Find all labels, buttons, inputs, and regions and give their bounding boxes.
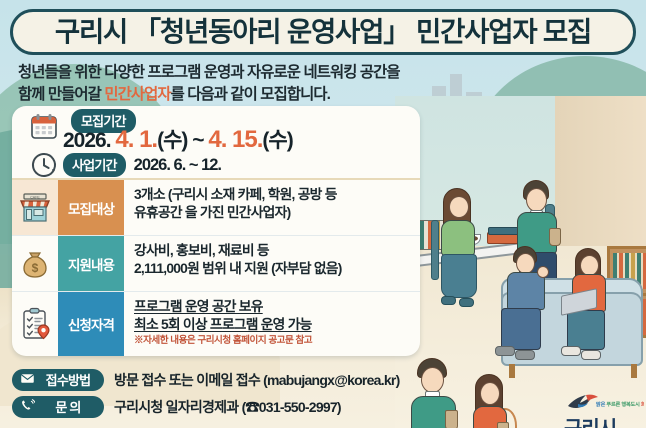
info-row-support: $ 지원내용 강사비, 홍보비, 재료비 등 2,111,000원 범위 내 지… bbox=[12, 236, 420, 292]
info-row-target: CAFE 모집대상 3개소 (구리시 소재 카페, 학원, 공방 등 유휴 bbox=[12, 180, 420, 236]
eligibility-note: ※자세한 내용은 구리시청 홈페이지 공고문 참고 bbox=[134, 335, 414, 348]
eligibility-line-1: 프로그램 운영 공간 보유 bbox=[134, 298, 414, 316]
clock-icon bbox=[25, 148, 63, 182]
storefront-icon: CAFE bbox=[12, 180, 58, 235]
envelope-icon bbox=[20, 372, 35, 387]
project-period-row: 사업기간 2026. 6. ~ 12. bbox=[25, 148, 221, 182]
illustration-shoe bbox=[459, 298, 474, 307]
guri-city-logo-name: 구리시 bbox=[564, 412, 616, 428]
illustration-chair-1 bbox=[431, 220, 439, 280]
info-card: 모집기간 2026. 4. 1.(수) ~ 4. 15.(수) 사업기간 202… bbox=[12, 106, 420, 356]
logo-slogan-part-3: 희망찬 bbox=[641, 402, 644, 408]
illustration-head bbox=[580, 255, 599, 276]
info-row-support-label: 지원내용 bbox=[58, 236, 124, 291]
recruit-period-row: 모집기간 2026. 4. 1.(수) ~ 4. 15.(수) bbox=[25, 110, 63, 144]
illustration-head bbox=[516, 253, 535, 274]
subtitle-line-2-post: 를 다음과 같이 모집합니다. bbox=[171, 86, 330, 103]
inquiry-pill: 문 의 bbox=[12, 396, 104, 418]
illustration-head bbox=[480, 382, 500, 405]
poster-root: 구리시 「청년동아리 운영사업」 민간사업자 모집 청년들을 위한 다양한 프로… bbox=[0, 0, 646, 428]
illustration-takeaway-cup bbox=[497, 422, 509, 428]
logo-slogan-part-1: 맑은 bbox=[596, 402, 605, 408]
illustration-sofa-leg bbox=[631, 364, 637, 378]
info-row-eligibility-body: 프로그램 운영 공간 보유 최소 5회 이상 프로그램 운영 가능 ※자세한 내… bbox=[124, 292, 420, 356]
info-card-top-rows: 모집기간 2026. 4. 1.(수) ~ 4. 15.(수) 사업기간 202… bbox=[12, 106, 420, 178]
application-method-label: 접수방법 bbox=[40, 370, 96, 389]
illustration-shoe bbox=[515, 350, 535, 360]
subtitle-line-2: 함께 만들어갈 민간사업자를 다음과 같이 모집합니다. bbox=[18, 84, 438, 106]
eligibility-line-2: 최소 5회 이상 프로그램 운영 가능 bbox=[134, 316, 414, 334]
target-line-2: 유휴공간 을 가진 민간사업자) bbox=[134, 204, 414, 222]
phone-icon bbox=[20, 399, 35, 415]
info-row-eligibility: 신청자격 프로그램 운영 공간 보유 최소 5회 이상 프로그램 운영 가능 ※… bbox=[12, 292, 420, 356]
support-line-1: 강사비, 홍보비, 재료비 등 bbox=[134, 242, 414, 260]
illustration-shoe bbox=[581, 350, 601, 360]
illustration-head bbox=[449, 196, 469, 218]
illustration-takeaway-cup bbox=[445, 410, 458, 428]
illustration-shoe bbox=[561, 346, 581, 356]
subtitle-line-1: 청년들을 위한 다양한 프로그램 운영과 자유로운 네트워킹 공간을 bbox=[18, 62, 438, 84]
svg-text:CAFE: CAFE bbox=[30, 195, 40, 199]
illustration-legs bbox=[501, 308, 541, 350]
contact-row-application: 접수방법 방문 접수 또는 이메일 접수 (mabujangx@korea.kr… bbox=[12, 366, 442, 393]
svg-text:$: $ bbox=[32, 261, 39, 275]
page-title: 구리시 「청년동아리 운영사업」 민간사업자 모집 bbox=[55, 18, 591, 46]
poster-subtitle: 청년들을 위한 다양한 프로그램 운영과 자유로운 네트워킹 공간을 함께 만들… bbox=[18, 62, 438, 106]
inquiry-label: 문 의 bbox=[40, 397, 96, 416]
illustration-head bbox=[526, 188, 547, 212]
calendar-icon bbox=[25, 110, 63, 144]
subtitle-highlight: 민간사업자 bbox=[104, 86, 170, 103]
illustration-shoe bbox=[441, 296, 456, 305]
illustration-shoe bbox=[495, 346, 515, 356]
support-line-2: 2,111,000원 범위 내 지원 (자부담 없음) bbox=[134, 260, 414, 278]
period-end-day: (수) bbox=[262, 129, 292, 152]
clipboard-check-icon bbox=[12, 292, 58, 356]
illustration-skirt bbox=[441, 254, 477, 298]
info-row-target-label: 모집대상 bbox=[58, 180, 124, 235]
guri-city-logo: 맑은 푸르른 행복도시 희망찬 구리시 bbox=[560, 392, 644, 428]
subtitle-line-2-pre: 함께 만들어갈 bbox=[18, 86, 104, 103]
illustration-takeaway-cup bbox=[549, 228, 561, 246]
contact-row-inquiry: 문 의 구리시청 일자리경제과 (☎031-550-2997) bbox=[12, 393, 442, 420]
poster-title-banner: 구리시 「청년동아리 운영사업」 민간사업자 모집 bbox=[10, 9, 636, 55]
logo-slogan-part-2: 푸르른 행복도시 bbox=[606, 402, 639, 408]
guri-city-logo-slogan: 맑은 푸르른 행복도시 희망찬 bbox=[596, 401, 644, 408]
illustration-torso bbox=[507, 272, 545, 310]
illustration-torso bbox=[441, 220, 475, 256]
application-method-value: 방문 접수 또는 이메일 접수 (mabujangx@korea.kr) bbox=[114, 370, 400, 390]
application-method-pill: 접수방법 bbox=[12, 369, 104, 391]
info-row-target-body: 3개소 (구리시 소재 카페, 학원, 공방 등 유휴공간 을 가진 민간사업자… bbox=[124, 180, 420, 235]
illustration-wall-right bbox=[555, 96, 646, 266]
inquiry-value: 구리시청 일자리경제과 (☎031-550-2997) bbox=[114, 397, 341, 417]
info-row-support-body: 강사비, 홍보비, 재료비 등 2,111,000원 범위 내 지원 (자부담 … bbox=[124, 236, 420, 291]
illustration-legs bbox=[567, 310, 605, 350]
info-row-list: CAFE 모집대상 3개소 (구리시 소재 카페, 학원, 공방 등 유휴 bbox=[12, 180, 420, 356]
illustration-sofa-leg bbox=[509, 364, 515, 378]
contact-block: 접수방법 방문 접수 또는 이메일 접수 (mabujangx@korea.kr… bbox=[12, 366, 442, 420]
project-period-value: 2026. 6. ~ 12. bbox=[134, 157, 221, 174]
illustration-hand bbox=[537, 266, 549, 278]
illustration-books-on-table bbox=[487, 232, 521, 244]
project-period-label: 사업기간 bbox=[63, 153, 126, 177]
money-bag-icon: $ bbox=[12, 236, 58, 291]
info-row-eligibility-label: 신청자격 bbox=[58, 292, 124, 356]
target-line-1: 3개소 (구리시 소재 카페, 학원, 공방 등 bbox=[134, 186, 414, 204]
